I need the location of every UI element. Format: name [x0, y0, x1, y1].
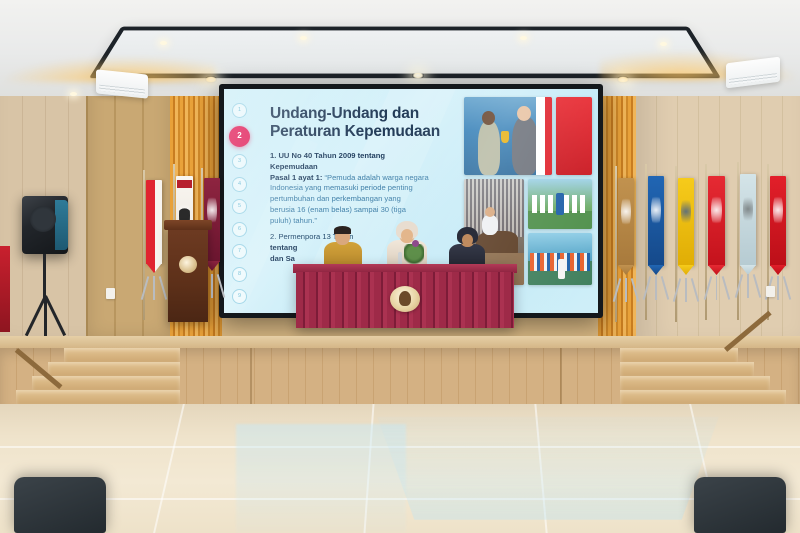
flag-stand [736, 274, 760, 298]
frame-led-2 [300, 36, 307, 40]
frame-led-4 [660, 42, 667, 46]
item1-quote-line2: Indonesia yang memasuki periode penting [270, 183, 454, 194]
slide-title: Undang-Undang dan Peraturan Kepemudaan [270, 105, 466, 142]
step-dot-9[interactable]: 9 [232, 289, 247, 304]
ac-vent-left [99, 84, 145, 95]
step-dot-5[interactable]: 5 [232, 199, 247, 214]
flag-tan [618, 178, 634, 278]
head-table [296, 264, 514, 328]
step-dot-7[interactable]: 7 [232, 244, 247, 259]
flower-purple [412, 240, 419, 247]
slide-item-1: 1. UU No 40 Tahun 2009 tentang Kepemudaa… [270, 151, 454, 226]
flag-cloth [678, 178, 694, 266]
red-fabric-left-edge [0, 246, 10, 332]
red-panel-photo [556, 97, 592, 175]
step-dot-8[interactable]: 8 [232, 267, 247, 282]
flag-pale-blue [740, 174, 756, 274]
downlight-2 [412, 72, 424, 79]
podium-top [164, 220, 212, 230]
institution-emblem [390, 286, 420, 312]
perimeter-light-left [70, 92, 77, 96]
ac-vent-right [729, 73, 777, 85]
stage-steps-left [0, 332, 180, 412]
team-lineup-photo [528, 179, 592, 229]
podium-emblem [179, 256, 197, 273]
item1-article-label: Pasal 1 ayat 1: [270, 173, 322, 182]
wall-outlet-right [766, 286, 775, 297]
flag-yellow [678, 178, 694, 278]
flag-cloth [740, 174, 756, 266]
item1-quote-line4: berusia 16 (enam belas) sampai 30 (tiga [270, 205, 454, 216]
foreground-chair-right [694, 477, 786, 533]
flag-stand [705, 276, 729, 300]
step-dot-1[interactable]: 1 [232, 103, 247, 118]
frame-led-3 [520, 36, 527, 40]
podium [168, 226, 208, 322]
flag-stand [614, 278, 638, 302]
item1-heading-line1: 1. UU No 40 Tahun 2009 tentang [270, 151, 454, 162]
step-dot-3[interactable]: 3 [232, 154, 247, 169]
flag-red [708, 176, 725, 276]
flag-red-2 [770, 176, 786, 276]
step-dot-6[interactable]: 6 [232, 222, 247, 237]
flag-indonesia [146, 180, 162, 276]
item1-quote: Pasal 1 ayat 1: “Pemuda adalah warga neg… [270, 173, 454, 184]
slide-title-line-1: Undang-Undang dan [270, 105, 466, 123]
stage-steps-right [620, 332, 800, 412]
frame-led-1 [160, 41, 167, 45]
flag-blue [648, 176, 664, 276]
flag-cloth [708, 176, 725, 266]
flag-cloth [648, 176, 664, 266]
foreground-chair-left [14, 477, 106, 533]
flag-cloth [770, 176, 786, 266]
step-dot-2-active[interactable]: 2 [229, 126, 250, 147]
speaker-side-panel [55, 200, 68, 250]
item1-quote-line3: pertumbuhan dan perkembangan yang [270, 194, 454, 205]
slide-step-rail: 1 2 3 4 5 6 7 8 9 [232, 103, 258, 293]
handshake-trophy-photo [464, 97, 552, 175]
flag-stand [644, 276, 668, 300]
item1-quote-line1: “Pemuda adalah warga negara [324, 173, 428, 182]
flag-stand [142, 276, 166, 300]
table-flowers [404, 244, 424, 266]
flag-stand [674, 278, 698, 302]
step-dot-4[interactable]: 4 [232, 177, 247, 192]
field-ceremony-photo [528, 233, 592, 285]
flag-cloth [146, 180, 162, 264]
floor-reflection-left [236, 424, 406, 533]
auditorium-photo: 1 2 3 4 5 6 7 8 9 Undang-Undang dan Pera… [0, 0, 800, 533]
slide-title-line-2: Peraturan Kepemudaan [270, 123, 466, 141]
floor-reflection-screen [377, 417, 719, 520]
pa-speaker-left [22, 196, 68, 254]
wall-outlet-left [106, 288, 115, 299]
item1-heading-line2: Kepemudaan [270, 162, 454, 173]
flag-cloth [618, 178, 634, 266]
speaker-driver [30, 206, 56, 232]
